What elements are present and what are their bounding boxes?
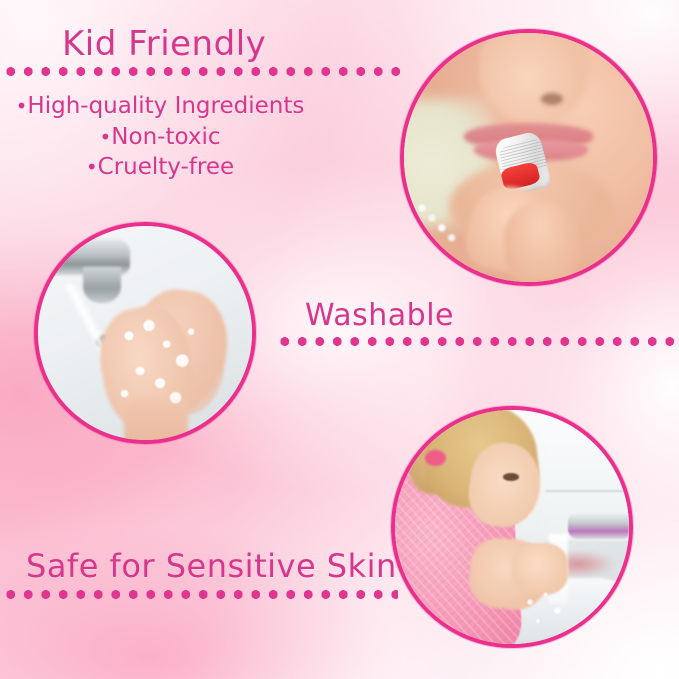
photo-hand-wash bbox=[34, 222, 256, 444]
heading-safe-for-sensitive-skin: Safe for Sensitive Skin bbox=[26, 547, 397, 585]
heading-washable: Washable bbox=[305, 298, 454, 333]
photo-lip-balm bbox=[400, 29, 657, 286]
photo-lip-balm-scene bbox=[404, 33, 653, 282]
list-item-label: High-quality Ingredients bbox=[27, 93, 304, 119]
photo-hand-wash-scene bbox=[38, 226, 252, 440]
dotted-divider-middle bbox=[276, 337, 679, 346]
list-item: •High-quality Ingredients bbox=[0, 91, 320, 122]
soap-foam bbox=[109, 307, 220, 410]
heading-kid-friendly: Kid Friendly bbox=[62, 24, 266, 64]
bullet-marker-icon: • bbox=[100, 125, 112, 149]
faucet-tap bbox=[568, 513, 629, 539]
water-splash bbox=[517, 588, 583, 635]
dotted-divider-top bbox=[2, 67, 404, 76]
benefit-bullet-list: •High-quality Ingredients •Non-toxic •Cr… bbox=[0, 91, 320, 183]
bullet-marker-icon: • bbox=[86, 155, 98, 179]
wall-tile-seam bbox=[540, 490, 629, 492]
product-feature-poster: Kid Friendly •High-quality Ingredients •… bbox=[0, 0, 679, 679]
pearl-necklace bbox=[411, 197, 466, 252]
list-item-label: Non-toxic bbox=[111, 124, 220, 150]
list-item: •Cruelty-free bbox=[0, 152, 320, 183]
list-item: •Non-toxic bbox=[0, 122, 320, 153]
bullet-marker-icon: • bbox=[16, 94, 28, 118]
list-item-label: Cruelty-free bbox=[98, 154, 235, 180]
photo-girl-washing-hands bbox=[391, 406, 633, 648]
photo-girl-scene bbox=[395, 410, 629, 644]
dotted-divider-bottom bbox=[2, 590, 398, 599]
